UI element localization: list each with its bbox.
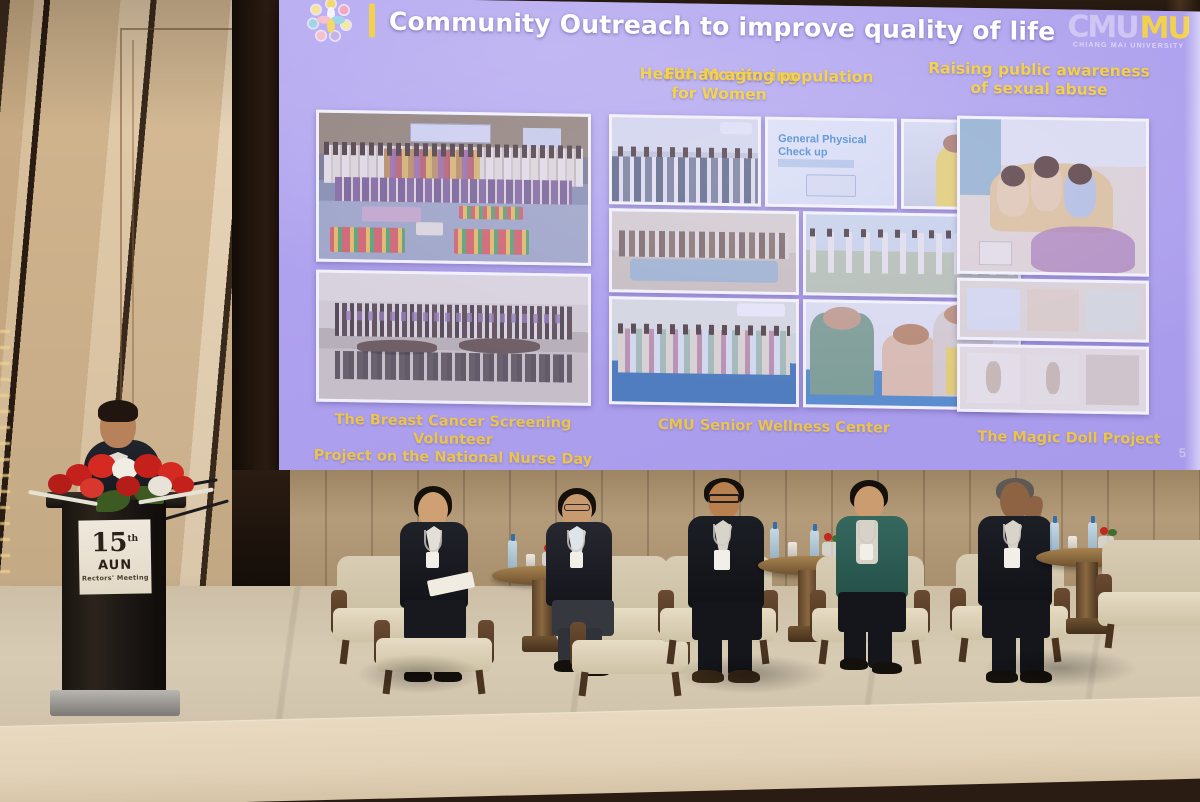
floor-shadow <box>950 640 1170 696</box>
panelist-4-badge <box>860 544 873 560</box>
photo-magic-dolls-on-bed <box>957 116 1149 277</box>
podium-base <box>50 690 180 716</box>
panelist-3-lanyard <box>713 524 731 546</box>
podium-sign-number-text: 15 <box>91 528 128 559</box>
column-3-caption-line1: The Magic Doll Project <box>969 428 1169 449</box>
podium-sign-event: Rectors' Meeting <box>82 573 149 582</box>
title-accent-bar <box>369 3 375 37</box>
panelist-4-lanyard <box>858 522 876 544</box>
vase-flower <box>1100 527 1108 535</box>
projection-screen: Community Outreach to improve quality of… <box>279 0 1200 508</box>
photo-body-outline-materials <box>957 344 1149 415</box>
red-flower <box>48 474 72 494</box>
panelist-4-head <box>854 486 884 520</box>
water-bottle <box>1050 522 1059 552</box>
panelist-1-lanyard <box>424 530 442 552</box>
white-flower <box>148 476 172 496</box>
speaker-hair <box>98 400 138 422</box>
panelist-3-glasses <box>708 494 740 503</box>
podium-sign-number: 15th <box>91 532 138 556</box>
conference-photo-scene: Community Outreach to improve quality of… <box>0 0 1200 802</box>
panelist-4-shoe-right <box>872 662 902 674</box>
cmu-logo-mark-left: CMU <box>1067 9 1137 45</box>
water-bottle <box>508 540 517 570</box>
photo-reception-desk <box>609 114 761 206</box>
panelist-2-lanyard <box>567 530 585 552</box>
armchair-empty <box>1098 540 1200 644</box>
drinking-glass <box>788 542 797 557</box>
podium-sign: 15th AUN Rectors' Meeting <box>78 519 151 594</box>
photo-activity-room <box>609 208 799 295</box>
panelist-2-badge <box>570 552 583 568</box>
podium-sign-ordinal: th <box>127 534 138 544</box>
floor-shadow <box>640 646 860 702</box>
photo-general-physical-checkup-poster: General PhysicalCheck up <box>765 117 897 209</box>
panelist-3-badge <box>714 550 730 570</box>
side-table-stem <box>1076 562 1098 622</box>
cmu-logo: CMU MU CHIANG MAI UNIVERSITY <box>1067 9 1200 51</box>
panelist-5-badge <box>1004 548 1020 568</box>
column-1-caption-line1: The Breast Cancer Screening Volunteer <box>293 410 613 451</box>
cmu-logo-subtitle: CHIANG MAI UNIVERSITY <box>1073 41 1185 50</box>
column-1-heading-line2: for Women <box>599 83 839 106</box>
red-flower <box>116 476 140 496</box>
column-3-caption: The Magic Doll Project <box>969 428 1169 449</box>
column-3-heading: Raising public awareness of sexual abuse <box>899 59 1179 101</box>
screen-edge-highlight <box>1184 11 1200 508</box>
photo-seminar-room <box>316 270 591 406</box>
panelist-1-badge <box>426 552 439 568</box>
podium-flower-arrangement <box>22 446 212 516</box>
floor-shadow <box>330 646 510 702</box>
photo-nurse-group <box>316 110 591 266</box>
red-flower <box>80 478 104 498</box>
column-1-caption: The Breast Cancer Screening Volunteer Pr… <box>293 410 613 469</box>
stage-side-panel <box>232 470 290 590</box>
podium-sign-org: AUN <box>98 557 132 573</box>
panelist-4 <box>828 480 920 672</box>
checkup-poster-text: General PhysicalCheck up <box>778 133 867 159</box>
water-bottle <box>770 528 779 558</box>
panelist-2-glasses <box>564 504 590 511</box>
photo-clinic-corridor-lineup <box>609 296 799 407</box>
panelist-5-lanyard <box>1003 524 1021 546</box>
slide-title: Community Outreach to improve quality of… <box>389 6 1055 45</box>
cmu-logo-mark-right: MU <box>1140 10 1190 46</box>
cmu-flower-icon <box>305 0 357 45</box>
vase-greenery <box>1108 529 1117 536</box>
armchair-seat <box>1098 592 1200 626</box>
decorative-wall-lights <box>0 330 10 630</box>
photo-doll-clothing-set <box>957 278 1149 343</box>
